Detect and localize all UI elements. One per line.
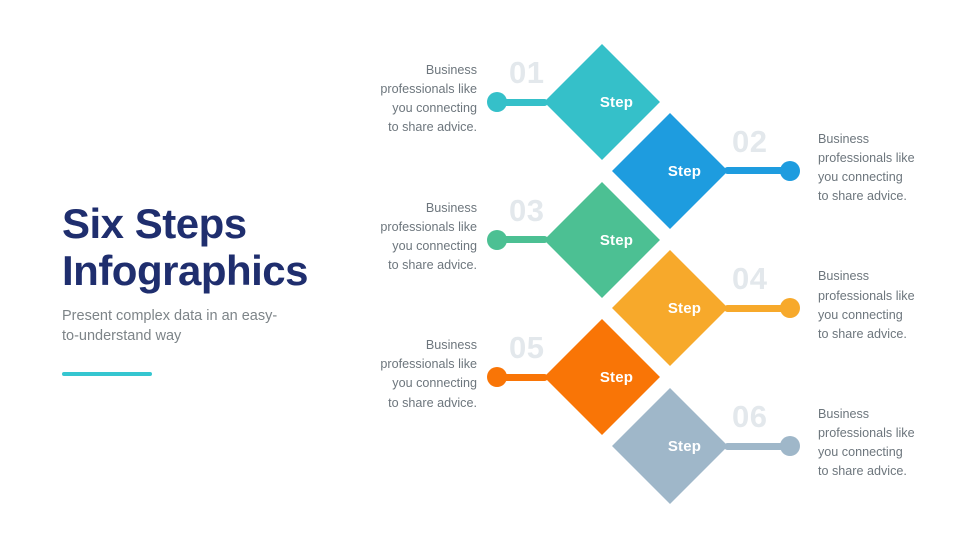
- connector-dot-03: [487, 230, 507, 250]
- step-description-06: Business professionals like you connecti…: [818, 405, 948, 482]
- connector-dot-04: [780, 298, 800, 318]
- step-number-03: 03: [509, 193, 544, 229]
- step-description-03: Business professionals like you connecti…: [347, 199, 477, 276]
- six-step-diagram: Step01Business professionals like you co…: [0, 0, 980, 551]
- step-number-04: 04: [732, 261, 767, 297]
- step-label-06: Step: [627, 438, 742, 455]
- step-number-05: 05: [509, 330, 544, 366]
- step-label-04: Step: [627, 300, 742, 317]
- step-description-05: Business professionals like you connecti…: [347, 336, 477, 413]
- step-description-04: Business professionals like you connecti…: [818, 267, 948, 344]
- step-number-02: 02: [732, 124, 767, 160]
- slide-canvas: Six Steps Infographics Present complex d…: [0, 0, 980, 551]
- step-description-02: Business professionals like you connecti…: [818, 130, 948, 207]
- connector-dot-05: [487, 367, 507, 387]
- connector-dot-02: [780, 161, 800, 181]
- step-label-02: Step: [627, 163, 742, 180]
- connector-dot-06: [780, 436, 800, 456]
- step-number-01: 01: [509, 55, 544, 91]
- step-number-06: 06: [732, 399, 767, 435]
- connector-dot-01: [487, 92, 507, 112]
- step-label-03: Step: [559, 232, 674, 249]
- step-label-05: Step: [559, 369, 674, 386]
- step-label-01: Step: [559, 94, 674, 111]
- step-description-01: Business professionals like you connecti…: [347, 61, 477, 138]
